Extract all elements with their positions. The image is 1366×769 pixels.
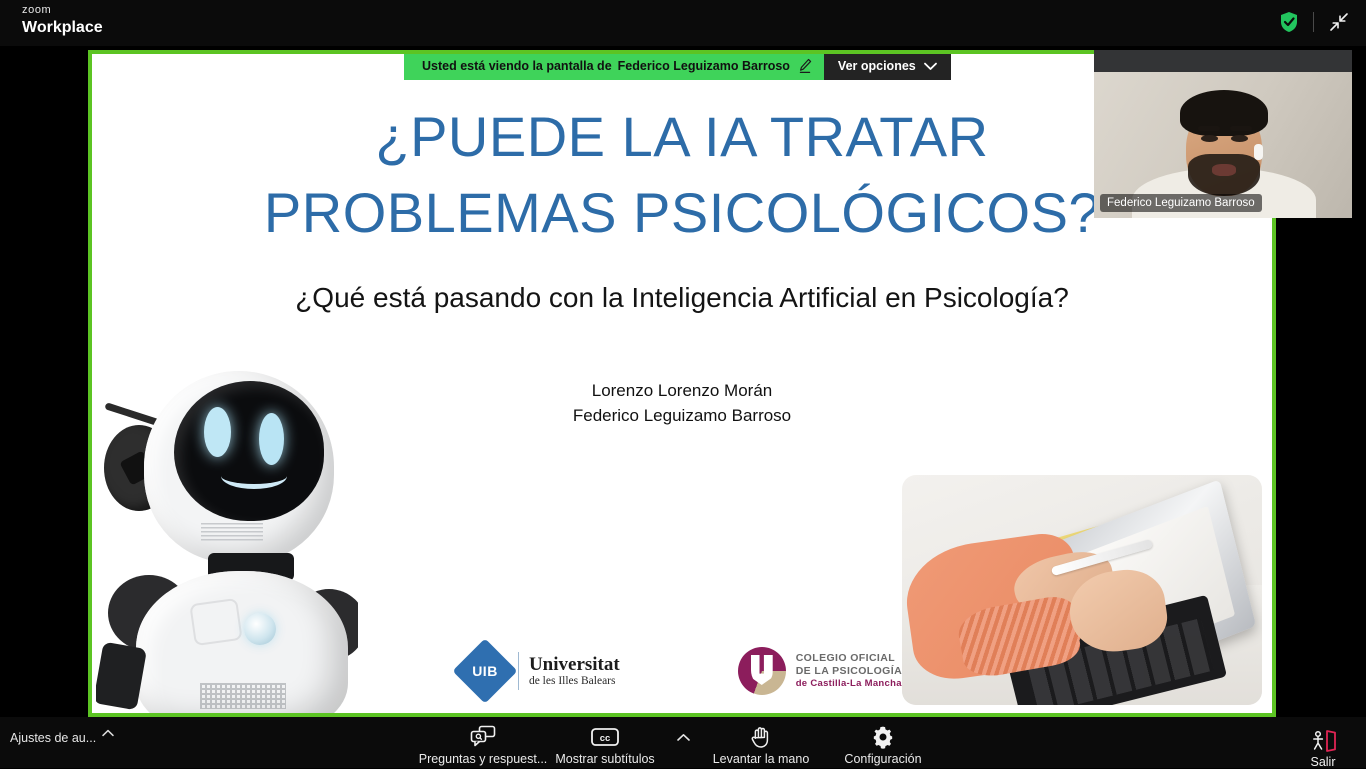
uib-wordmark: Universitat de les Illes Balears [529, 654, 620, 688]
brand-zoom-text: zoom [22, 5, 103, 16]
view-options-button[interactable]: Ver opciones [824, 54, 951, 80]
sharing-status: Usted está viendo la pantalla de Federic… [404, 54, 824, 80]
colegio-wordmark: COLEGIO OFICIAL DE LA PSICOLOGÍA de Cast… [796, 652, 902, 690]
meeting-toolbar: Ajustes de au... Preguntas y respuest... [0, 717, 1366, 768]
video-eyebrow-right [1230, 126, 1252, 131]
app-titlebar: zoom Workplace [0, 0, 1366, 46]
audio-settings-label: Ajustes de au... [10, 731, 96, 745]
colegio-circle [738, 647, 786, 695]
chevron-up-icon [677, 733, 690, 742]
leave-door-icon [1309, 729, 1337, 753]
raise-hand-button[interactable]: Levantar la mano [700, 721, 822, 766]
qa-bubbles-icon [470, 725, 496, 749]
qa-button[interactable]: Preguntas y respuest... [422, 721, 544, 766]
video-earbud [1254, 144, 1263, 160]
video-eye-right [1231, 135, 1248, 142]
sharing-presenter-name: Federico Leguizamo Barroso [618, 59, 790, 73]
colegio-mark [738, 647, 786, 695]
raise-hand-icon [749, 725, 773, 749]
closed-captions-icon: cc [590, 725, 620, 749]
leave-label: Salir [1310, 755, 1335, 769]
audio-settings-button[interactable]: Ajustes de au... [10, 731, 114, 745]
uib-logo: UIB Universitat de les Illes Balears [462, 648, 620, 694]
captions-button[interactable]: cc Mostrar subtítulos [544, 721, 666, 766]
video-mouth [1212, 164, 1236, 176]
robot-chest-led [244, 613, 276, 645]
svg-text:cc: cc [600, 733, 611, 744]
settings-button[interactable]: Configuración [822, 721, 944, 766]
video-panel-header [1094, 50, 1352, 72]
titlebar-divider [1313, 12, 1314, 32]
video-eyebrow-left [1198, 126, 1220, 131]
robot-eye-left [204, 407, 231, 457]
uib-monogram: UIB [462, 648, 508, 694]
brand-workplace-text: Workplace [22, 20, 103, 36]
qa-label: Preguntas y respuest... [419, 752, 548, 766]
gear-icon [871, 725, 895, 749]
participant-name-badge: Federico Leguizamo Barroso [1100, 194, 1262, 212]
encryption-shield-icon[interactable] [1279, 11, 1299, 33]
uib-name: Universitat [529, 654, 620, 675]
slide-subtitle: ¿Qué está pasando con la Inteligencia Ar… [92, 282, 1272, 314]
annotate-pen-icon[interactable] [796, 58, 812, 74]
chevron-up-icon[interactable] [102, 731, 114, 737]
captions-label: Mostrar subtítulos [555, 752, 654, 766]
robot-visor [174, 381, 324, 521]
uib-diamond-mark: UIB [452, 638, 517, 703]
uib-divider [518, 652, 519, 690]
leave-meeting-button[interactable]: Salir [1294, 729, 1352, 769]
screen-share-banner: Usted está viendo la pantalla de Federic… [404, 54, 951, 80]
uib-subtitle: de les Illes Balears [529, 675, 620, 688]
slide-logo-row: UIB Universitat de les Illes Balears COL… [92, 647, 1272, 695]
chevron-down-icon [924, 62, 937, 71]
video-hair [1180, 90, 1268, 136]
participant-video-tile[interactable]: Federico Leguizamo Barroso [1094, 72, 1352, 218]
robot-smile [221, 463, 287, 489]
video-eye-left [1201, 135, 1218, 142]
zoom-brand-logo: zoom Workplace [22, 5, 103, 36]
colegio-line-3: de Castilla-La Mancha [796, 678, 902, 690]
robot-head-grille [201, 523, 263, 543]
colegio-psicologia-logo: COLEGIO OFICIAL DE LA PSICOLOGÍA de Cast… [738, 647, 902, 695]
colegio-line-1: COLEGIO OFICIAL [796, 652, 902, 665]
robot-chest-plate [189, 598, 242, 646]
titlebar-actions [1279, 11, 1350, 33]
sharing-status-text: Usted está viendo la pantalla de [422, 59, 612, 73]
captions-options-button[interactable] [666, 721, 700, 742]
colegio-line-2: DE LA PSICOLOGÍA [796, 665, 902, 678]
robot-eye-right [259, 413, 284, 465]
view-options-label: Ver opciones [838, 59, 916, 73]
settings-label: Configuración [844, 752, 921, 766]
raise-hand-label: Levantar la mano [713, 752, 810, 766]
exit-fullscreen-icon[interactable] [1328, 11, 1350, 33]
toolbar-center-actions: Preguntas y respuest... cc Mostrar subtí… [422, 721, 944, 766]
